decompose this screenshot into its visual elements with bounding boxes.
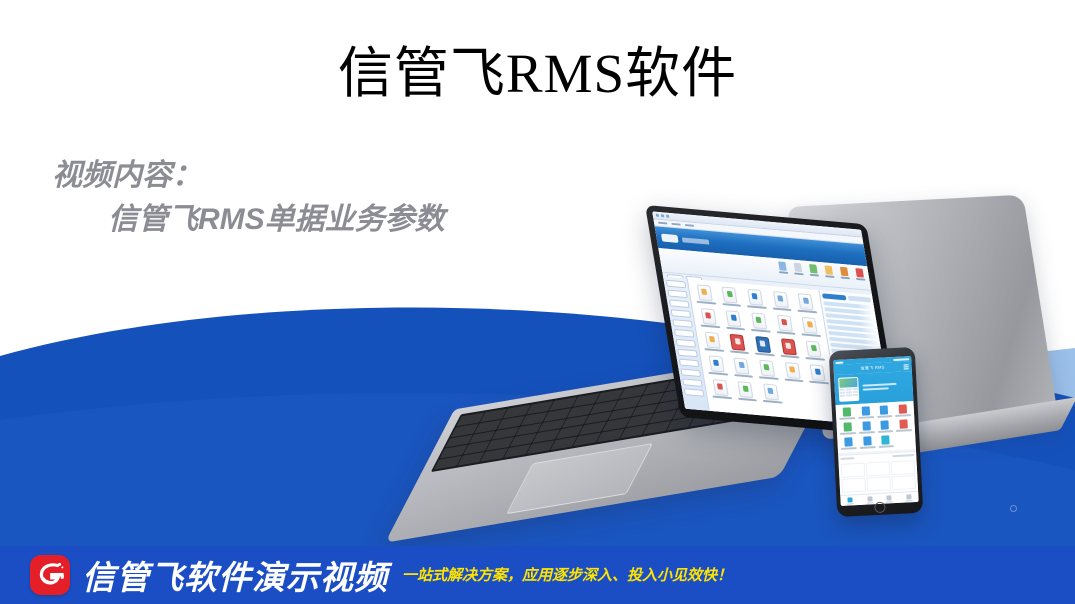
app-grid-icon (802, 340, 826, 361)
brand-tagline: 一站式解决方案，应用逐步深入、投入小见效快！ (402, 564, 732, 587)
app-main-icon-grid (688, 279, 841, 423)
toolbar-icon (823, 265, 834, 278)
app-grid-icon (722, 310, 746, 331)
slide-canvas: 信管飞 RMS (0, 0, 1075, 604)
phone-hero-text (863, 383, 897, 393)
phone-grid-item[interactable] (876, 420, 894, 433)
app-grid-icon (697, 308, 721, 329)
app-grid-icon (769, 291, 793, 312)
bottom-banner: 信管飞软件演示视频 一站式解决方案，应用逐步深入、投入小见效快！ (0, 546, 1075, 604)
phone-grid-item[interactable] (838, 422, 856, 435)
app-title-bar (652, 211, 862, 237)
app-toolbar (658, 248, 871, 291)
laptop-screen (652, 211, 894, 427)
phone-grid-item[interactable] (858, 436, 876, 449)
laptop-lid (645, 205, 902, 436)
phone-stats-grid (839, 458, 919, 495)
laptop-keyboard-deck (385, 343, 849, 542)
subtitle-block: 视频内容： 信管飞RMS单据业务参数 (52, 160, 445, 235)
app-grid-icon (777, 338, 801, 359)
app-sidebar (663, 277, 710, 411)
app-grid-icon (794, 293, 818, 314)
phone-grid-item[interactable] (856, 406, 874, 419)
app-grid-icon (734, 381, 758, 402)
brand-name: 信管飞软件演示视频 (82, 551, 388, 599)
smartphone: 信管飞 RMS (829, 347, 924, 517)
app-body (663, 277, 894, 427)
app-grid-icon (693, 284, 717, 305)
phone-hero-device-thumb (838, 377, 859, 402)
app-grid-icon (701, 331, 725, 352)
subtitle-label: 视频内容： (52, 160, 445, 192)
laptop-trackpad (506, 443, 653, 514)
laptop-front (645, 205, 1025, 505)
app-grid-icon (743, 288, 767, 309)
xinguanfei-bird-logo-icon (30, 555, 70, 595)
page-title: 信管飞RMS软件 (0, 42, 1075, 105)
app-grid-icon (730, 357, 754, 378)
phone-nav-item[interactable] (879, 493, 899, 504)
phone-status-bar (833, 356, 911, 365)
phone-grid-item[interactable] (894, 404, 912, 417)
phone-grid-item[interactable] (838, 407, 856, 420)
phone-grid-item[interactable] (875, 405, 893, 418)
phone-nav-item[interactable] (840, 495, 860, 506)
phone-grid-item[interactable] (877, 435, 895, 448)
phone-grid-item[interactable] (857, 421, 875, 434)
toolbar-icon (793, 263, 804, 276)
phone-nav-item[interactable] (860, 494, 880, 505)
app-grid-icon (726, 334, 750, 355)
phone-menu-icon[interactable] (904, 364, 909, 370)
phone-app-header: 信管飞 RMS (833, 361, 911, 375)
toolbar-icon (777, 261, 788, 274)
app-brand-header (655, 226, 868, 266)
phone-grid-item[interactable] (895, 419, 913, 432)
phone-home-button[interactable] (874, 502, 886, 514)
app-grid-icon (773, 314, 797, 335)
app-tab-strip (662, 273, 872, 299)
laptop-keys (431, 352, 836, 472)
toolbar-icon (808, 264, 819, 277)
app-grid-icon (798, 317, 822, 338)
phone-hero-banner (834, 371, 913, 405)
toolbar-icon (854, 268, 865, 281)
app-grid-icon (751, 336, 775, 357)
phone-section-header (838, 451, 916, 462)
decorative-dot (1010, 505, 1017, 512)
phone-app-title: 信管飞 RMS (860, 364, 884, 371)
app-grid-icon (718, 286, 742, 307)
desktop-app-ui (652, 211, 894, 427)
app-grid-icon (747, 312, 771, 333)
phone-bottom-nav (840, 491, 918, 506)
app-grid-icon (806, 364, 830, 385)
toolbar-icon (839, 267, 850, 280)
app-grid-icon (759, 383, 783, 404)
app-right-panel (818, 290, 894, 427)
phone-grid-item (895, 434, 913, 447)
subtitle-topic: 信管飞RMS单据业务参数 (108, 204, 445, 236)
app-brand-name (682, 237, 710, 244)
laptop-back-lid (787, 195, 1060, 439)
app-grid-icon (781, 362, 805, 383)
phone-icon-grid (836, 401, 916, 453)
app-grid-icon (705, 355, 729, 376)
app-menu-bar (653, 219, 863, 244)
laptop-back-base (853, 397, 1075, 463)
phone-grid-item[interactable] (839, 437, 857, 450)
phone-screen: 信管飞 RMS (833, 356, 919, 506)
app-grid-icon (755, 359, 779, 380)
phone-nav-item[interactable] (899, 492, 919, 503)
app-grid-icon (709, 379, 733, 400)
app-logo-icon (661, 234, 679, 243)
